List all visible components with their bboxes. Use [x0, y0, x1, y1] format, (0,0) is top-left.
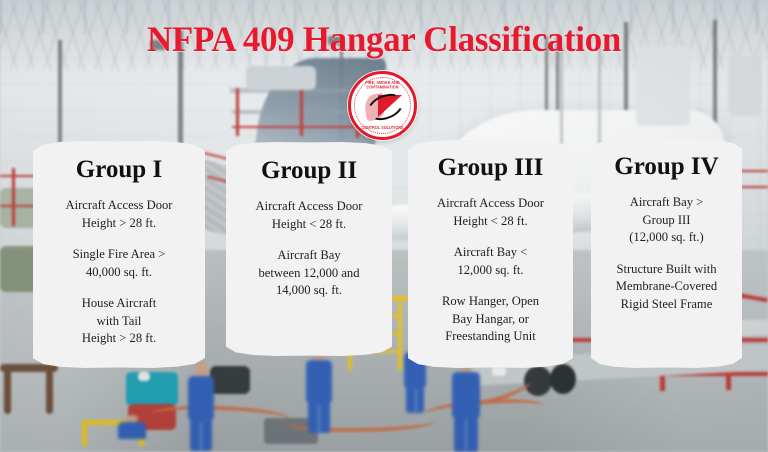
card-paragraph: Aircraft Bay < 12,000 sq. ft. — [418, 244, 563, 279]
card-title: Group II — [236, 157, 382, 185]
card-paragraph: Aircraft Access Door Height < 28 ft. — [236, 198, 382, 233]
card-title: Group IV — [601, 153, 732, 181]
card-paragraph: Structure Built with Membrane-Covered Ri… — [601, 261, 732, 314]
page-title: NFPA 409 Hangar Classification — [12, 18, 757, 60]
card-body: Aircraft Access Door Height > 28 ft. Sin… — [43, 197, 195, 348]
logo-emblem — [365, 90, 406, 126]
card-paragraph: House Aircraft with Tail Height > 28 ft. — [43, 295, 195, 348]
card-title: Group I — [43, 156, 195, 184]
classification-card-group-2: Group II Aircraft Access Door Height < 2… — [226, 142, 392, 356]
card-body: Aircraft Access Door Height < 28 ft. Air… — [236, 198, 382, 300]
card-body: Aircraft Bay > Group III (12,000 sq. ft.… — [601, 194, 732, 313]
card-paragraph: Row Hanger, Open Bay Hangar, or Freestan… — [418, 293, 563, 346]
card-title: Group III — [418, 154, 563, 182]
card-paragraph: Single Fire Area > 40,000 sq. ft. — [43, 246, 195, 281]
card-paragraph: Aircraft Bay between 12,000 and 14,000 s… — [236, 247, 382, 300]
card-paragraph: Aircraft Bay > Group III (12,000 sq. ft.… — [601, 194, 732, 247]
logo-arc-bottom-text: CONTROL SOLUTIONS — [351, 126, 414, 131]
classification-card-group-1: Group I Aircraft Access Door Height > 28… — [33, 141, 205, 368]
card-paragraph: Aircraft Access Door Height > 28 ft. — [43, 197, 195, 232]
card-paragraph: Aircraft Access Door Height < 28 ft. — [418, 195, 563, 230]
logo-arc-top-text: FIRE, SMOKE AND CONTAMINATION — [351, 80, 414, 89]
classification-card-group-3: Group III Aircraft Access Door Height < … — [408, 140, 573, 368]
classification-card-group-4: Group IV Aircraft Bay > Group III (12,00… — [591, 139, 742, 368]
card-body: Aircraft Access Door Height < 28 ft. Air… — [418, 195, 563, 346]
company-logo: FIRE, SMOKE AND CONTAMINATION CONTROL SO… — [348, 71, 417, 140]
